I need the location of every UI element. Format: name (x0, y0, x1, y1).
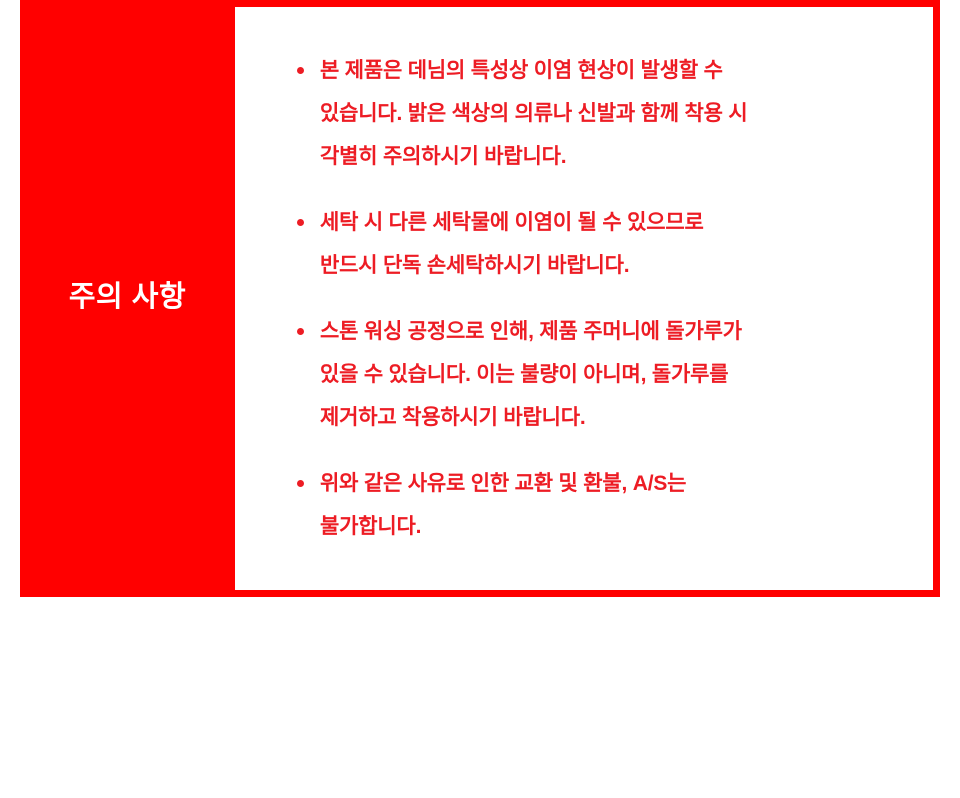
notice-item-text: 세탁 시 다른 세탁물에 이염이 될 수 있으므로반드시 단독 손세탁하시기 바… (320, 201, 893, 287)
notice-item: 스톤 워싱 공정으로 인해, 제품 주머니에 돌가루가있을 수 있습니다. 이는… (293, 310, 893, 439)
notice-label-panel: 주의 사항 (20, 0, 235, 597)
notice-item-line: 제거하고 착용하시기 바랍니다. (320, 396, 893, 439)
notice-item-text: 위와 같은 사유로 인한 교환 및 환불, A/S는불가합니다. (320, 462, 893, 548)
bullet-dot-icon (297, 328, 304, 335)
notice-item-line: 세탁 시 다른 세탁물에 이염이 될 수 있으므로 (320, 201, 893, 244)
notice-item-text: 본 제품은 데님의 특성상 이염 현상이 발생할 수있습니다. 밝은 색상의 의… (320, 49, 893, 178)
notice-item: 위와 같은 사유로 인한 교환 및 환불, A/S는불가합니다. (293, 462, 893, 548)
notice-label-title: 주의 사항 (69, 280, 186, 315)
notice-item-line: 있습니다. 밝은 색상의 의류나 신발과 함께 착용 시 (320, 92, 893, 135)
notice-item-line: 본 제품은 데님의 특성상 이염 현상이 발생할 수 (320, 49, 893, 92)
notice-item-line: 스톤 워싱 공정으로 인해, 제품 주머니에 돌가루가 (320, 310, 893, 353)
notice-item: 세탁 시 다른 세탁물에 이염이 될 수 있으므로반드시 단독 손세탁하시기 바… (293, 201, 893, 287)
bullet-dot-icon (297, 67, 304, 74)
notice-item-line: 불가합니다. (320, 505, 893, 548)
bullet-dot-icon (297, 219, 304, 226)
product-notice-page: 주의 사항 본 제품은 데님의 특성상 이염 현상이 발생할 수있습니다. 밝은… (0, 0, 960, 798)
notice-item-line: 각별히 주의하시기 바랍니다. (320, 135, 893, 178)
notice-list: 본 제품은 데님의 특성상 이염 현상이 발생할 수있습니다. 밝은 색상의 의… (293, 49, 893, 548)
notice-item-line: 위와 같은 사유로 인한 교환 및 환불, A/S는 (320, 462, 893, 505)
notice-block: 주의 사항 본 제품은 데님의 특성상 이염 현상이 발생할 수있습니다. 밝은… (20, 0, 940, 597)
notice-content-panel: 본 제품은 데님의 특성상 이염 현상이 발생할 수있습니다. 밝은 색상의 의… (235, 0, 940, 597)
bullet-dot-icon (297, 480, 304, 487)
notice-item-text: 스톤 워싱 공정으로 인해, 제품 주머니에 돌가루가있을 수 있습니다. 이는… (320, 310, 893, 439)
notice-item-line: 있을 수 있습니다. 이는 불량이 아니며, 돌가루를 (320, 353, 893, 396)
notice-item-line: 반드시 단독 손세탁하시기 바랍니다. (320, 244, 893, 287)
notice-item: 본 제품은 데님의 특성상 이염 현상이 발생할 수있습니다. 밝은 색상의 의… (293, 49, 893, 178)
